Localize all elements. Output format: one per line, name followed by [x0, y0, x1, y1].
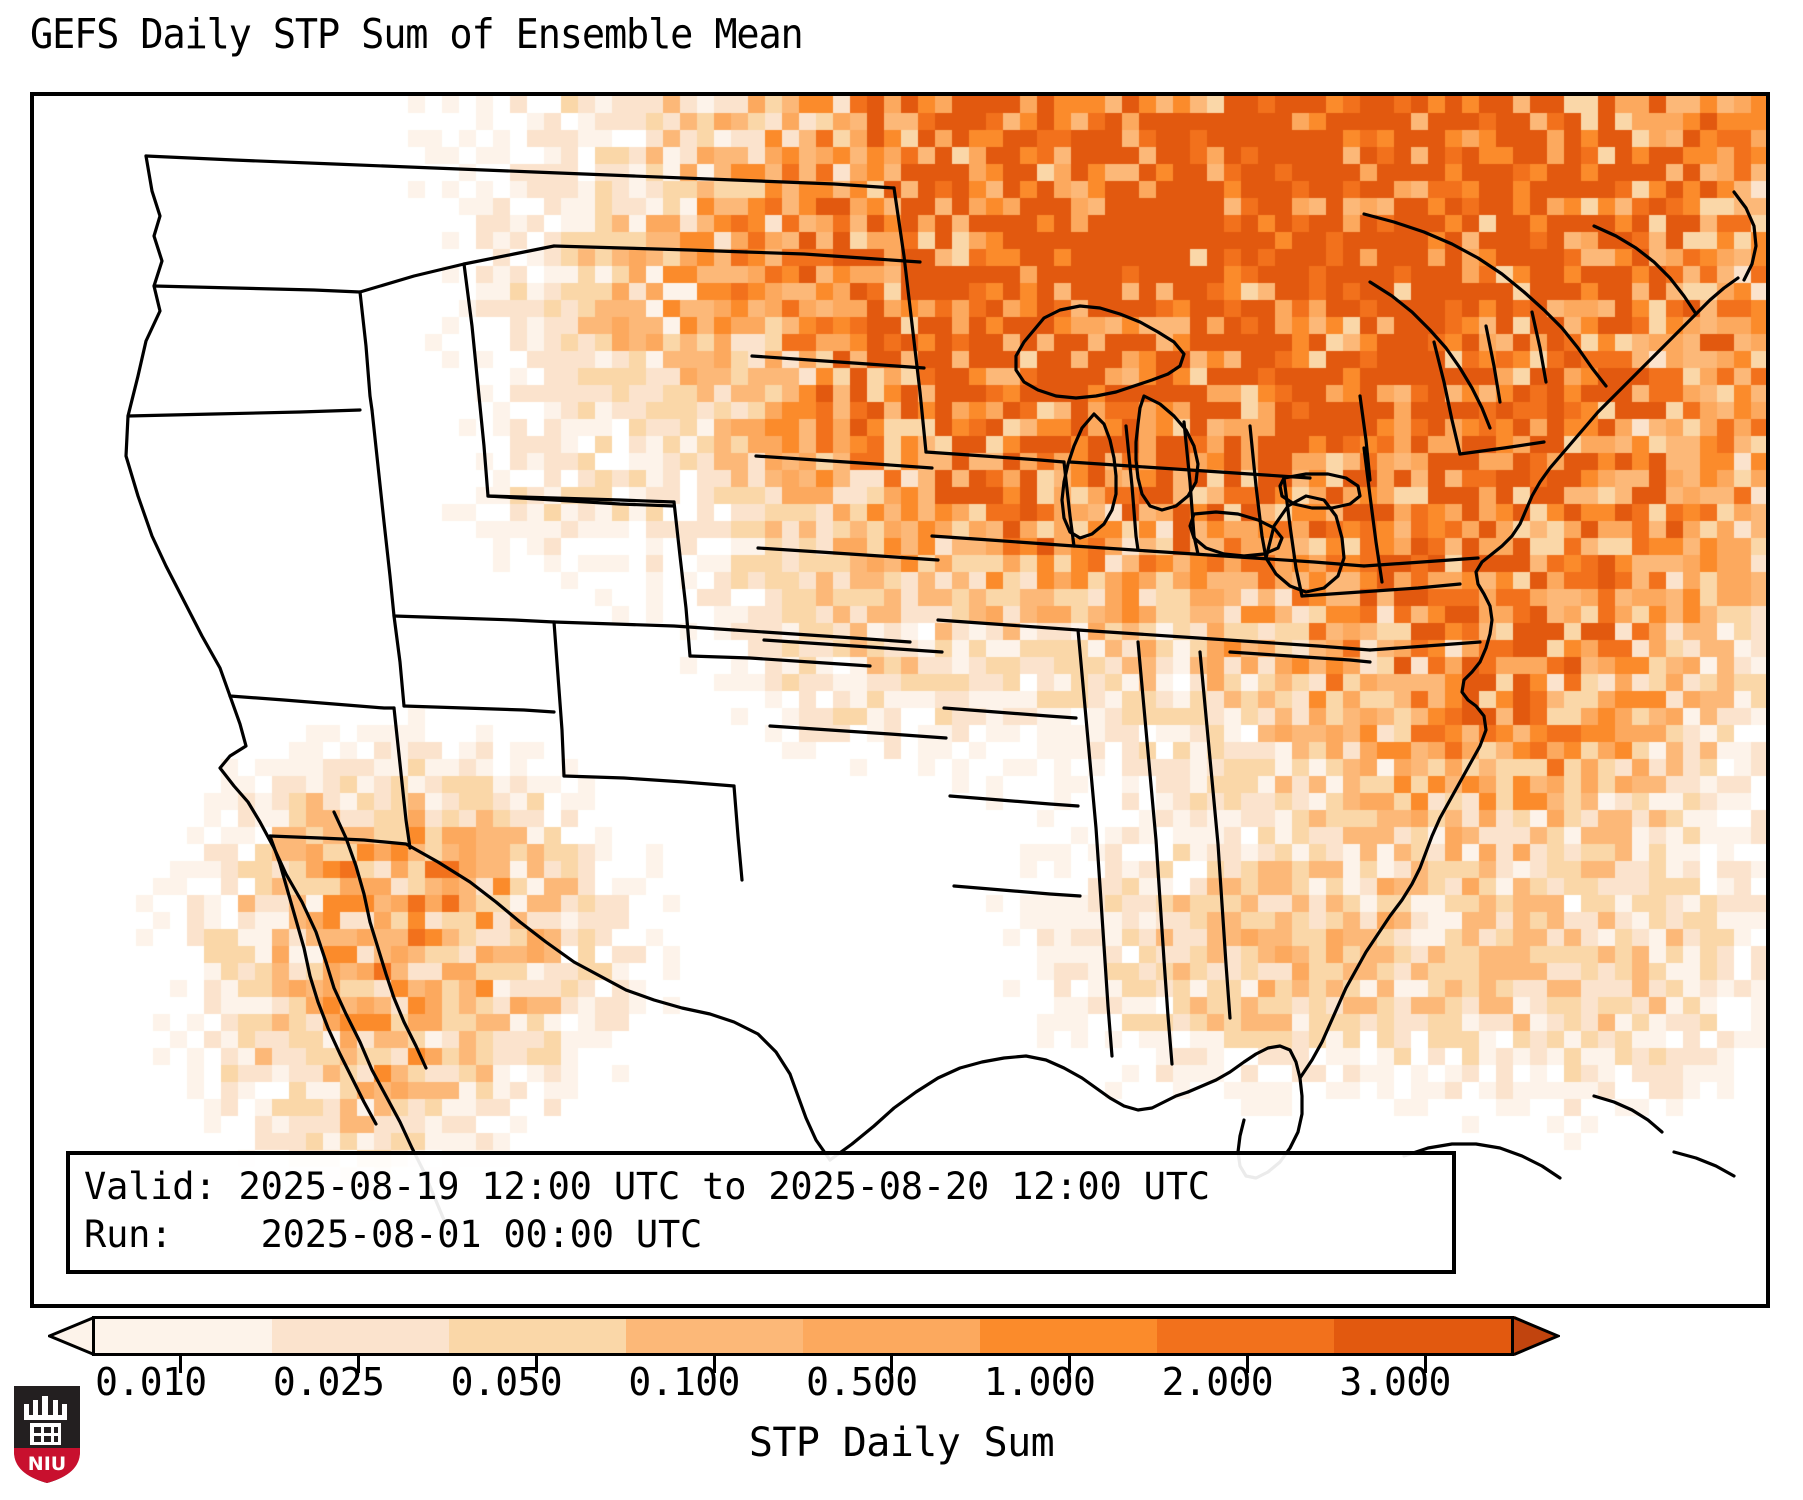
- geography-outline-layer: [34, 96, 1766, 1304]
- geo-path-55: [1138, 642, 1172, 1064]
- colorbar-tick-label-2: 0.050: [451, 1360, 562, 1404]
- geo-path-65: [1364, 448, 1382, 582]
- geo-path-24: [230, 696, 394, 708]
- geo-path-2: [334, 812, 426, 1068]
- colorbar-tick-label-6: 2.000: [1162, 1360, 1273, 1404]
- geo-path-27: [464, 264, 488, 496]
- geo-path-20: [154, 286, 360, 292]
- colorbar-band-4: [803, 1319, 980, 1353]
- niu-logo-text: NIU: [28, 1453, 66, 1475]
- geo-path-32: [554, 622, 734, 630]
- geo-path-72: [1364, 558, 1478, 566]
- geo-path-44: [758, 548, 938, 560]
- geo-path-54: [1078, 630, 1112, 1056]
- colorbar-band-0: [95, 1319, 272, 1353]
- geo-path-75: [1266, 496, 1344, 592]
- geo-path-4: [830, 1056, 1188, 1160]
- geo-path-46: [770, 726, 946, 738]
- geo-path-21: [128, 410, 360, 416]
- geo-path-22: [360, 292, 372, 410]
- colorbar-bands[interactable]: [92, 1316, 1514, 1356]
- geo-path-64: [1284, 478, 1302, 596]
- geo-path-7: [146, 156, 894, 188]
- geo-path-68: [1434, 342, 1460, 454]
- colorbar-tick-label-7: 3.000: [1339, 1360, 1450, 1404]
- colorbar-band-1: [272, 1319, 449, 1353]
- geo-path-31: [674, 502, 690, 656]
- geo-path-70: [1486, 326, 1500, 402]
- geo-path-8: [1016, 306, 1184, 398]
- geo-path-36: [564, 776, 734, 786]
- geo-path-29: [554, 246, 746, 252]
- figure-root: GEFS Daily STP Sum of Ensemble Mean Vali…: [0, 0, 1803, 1500]
- colorbar-band-3: [626, 1319, 803, 1353]
- geo-path-73: [1370, 642, 1480, 650]
- geo-path-3: [270, 836, 830, 1160]
- geo-path-26: [360, 246, 554, 292]
- geo-path-34: [404, 706, 554, 712]
- colorbar-tick-label-4: 0.500: [806, 1360, 917, 1404]
- geo-path-49: [932, 536, 1074, 546]
- colorbar-band-7: [1334, 1319, 1511, 1353]
- colorbar-axis-label: STP Daily Sum: [0, 1420, 1803, 1466]
- colorbar-tick-label-5: 1.000: [984, 1360, 1095, 1404]
- page-title: GEFS Daily STP Sum of Ensemble Mean: [30, 14, 803, 55]
- colorbar-tick-label-0: 0.010: [95, 1360, 206, 1404]
- geo-path-71: [1532, 312, 1546, 382]
- geo-path-19: [1674, 1152, 1734, 1176]
- geo-path-57: [1074, 546, 1364, 566]
- geo-path-35: [554, 622, 564, 776]
- geo-path-14: [1370, 282, 1490, 428]
- geo-path-47: [894, 188, 926, 452]
- geo-path-51: [944, 708, 1076, 718]
- geo-path-15: [1594, 226, 1696, 314]
- geo-path-37: [394, 708, 410, 848]
- geo-path-52: [950, 796, 1078, 806]
- map-canvas: [34, 96, 1766, 1304]
- run-time-line: Run: 2025-08-01 00:00 UTC: [84, 1211, 1438, 1258]
- valid-time-line: Valid: 2025-08-19 12:00 UTC to 2025-08-2…: [84, 1163, 1438, 1210]
- colorbar-under-arrow: [48, 1316, 94, 1356]
- colorbar-band-5: [980, 1319, 1157, 1353]
- colorbar-band-2: [449, 1319, 626, 1353]
- geo-path-50: [938, 620, 1078, 630]
- geo-path-25: [394, 616, 554, 622]
- geo-path-48: [926, 452, 1064, 462]
- niu-logo: NIU: [10, 1382, 84, 1486]
- geo-path-18: [1594, 1096, 1662, 1132]
- map-plot-area[interactable]: Valid: 2025-08-19 12:00 UTC to 2025-08-2…: [30, 92, 1770, 1308]
- colorbar-over-arrow: [1514, 1316, 1560, 1356]
- geo-path-38: [734, 786, 742, 880]
- geo-path-41: [746, 252, 920, 262]
- geo-path-69: [1460, 442, 1544, 454]
- geo-path-60: [1064, 462, 1074, 546]
- geo-path-0: [126, 156, 444, 1220]
- valid-run-infobox: Valid: 2025-08-19 12:00 UTC to 2025-08-2…: [66, 1151, 1456, 1274]
- geo-path-42: [752, 356, 924, 368]
- geo-path-23: [372, 410, 394, 616]
- geo-path-53: [954, 886, 1080, 896]
- geo-path-58: [1078, 630, 1370, 650]
- geo-path-63: [1250, 426, 1266, 558]
- geo-path-56: [1200, 652, 1230, 1018]
- geo-path-16: [1734, 192, 1756, 280]
- colorbar-tick-labels: 0.0100.0250.0500.1000.5001.0002.0003.000: [0, 1360, 1740, 1410]
- geo-path-45: [764, 640, 942, 652]
- colorbar-tick-label-1: 0.025: [273, 1360, 384, 1404]
- geo-path-33: [394, 616, 404, 706]
- geo-path-74: [1230, 652, 1370, 662]
- geo-path-6: [1300, 278, 1738, 1078]
- colorbar-tick-label-3: 0.100: [628, 1360, 739, 1404]
- geo-path-43: [756, 456, 932, 468]
- geo-path-13: [1364, 214, 1606, 386]
- geo-path-40: [734, 630, 910, 642]
- colorbar-band-6: [1157, 1319, 1334, 1353]
- geo-path-39: [690, 656, 870, 666]
- colorbar[interactable]: [30, 1316, 1770, 1362]
